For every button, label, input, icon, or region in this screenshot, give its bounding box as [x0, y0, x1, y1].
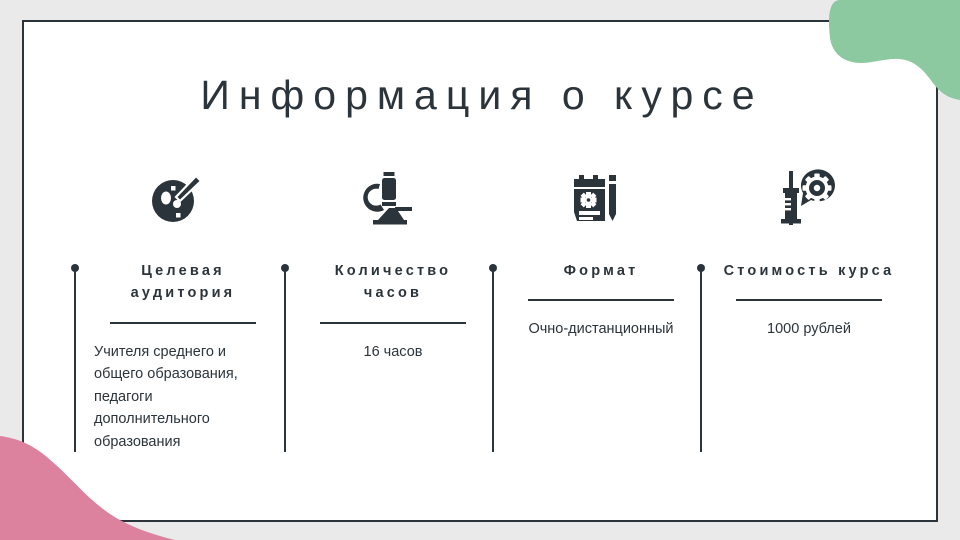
info-column: Количество часов 16 часов [284, 152, 492, 492]
page-title: Информация о курсе [24, 72, 940, 119]
column-heading: Формат [512, 260, 690, 282]
slide-canvas: Информация о курсе [0, 0, 960, 540]
column-body: Стоимость курса 1000 рублей [720, 260, 898, 341]
column-rule [320, 322, 466, 324]
info-column: Стоимость курса 1000 рублей [700, 152, 908, 492]
divider-dot [71, 264, 79, 272]
column-body: Количество часов 16 часов [304, 260, 482, 363]
info-column: Целевая аудитория Учителя среднего и общ… [74, 152, 282, 492]
column-text: Учителя среднего и общего образования, п… [94, 341, 272, 453]
column-divider [74, 268, 76, 452]
palette-brush-icon [74, 152, 282, 240]
column-heading: Количество часов [304, 260, 482, 305]
info-columns: Целевая аудитория Учителя среднего и общ… [24, 152, 940, 492]
syringe-gear-icon [700, 152, 908, 240]
column-text: 16 часов [304, 341, 482, 363]
divider-dot [281, 264, 289, 272]
microscope-icon [284, 152, 492, 240]
column-heading: Стоимость курса [720, 260, 898, 282]
column-divider [492, 268, 494, 452]
column-divider [700, 268, 702, 452]
column-text: 1000 рублей [720, 318, 898, 340]
column-rule [736, 299, 882, 301]
divider-dot [489, 264, 497, 272]
column-body: Формат Очно-дистанционный [512, 260, 690, 341]
info-column: Формат Очно-дистанционный [492, 152, 700, 492]
column-rule [110, 322, 256, 324]
slide-panel: Информация о курсе [22, 20, 938, 522]
column-rule [528, 299, 674, 301]
column-divider [284, 268, 286, 452]
column-text: Очно-дистанционный [512, 318, 690, 340]
notepad-pencil-icon [492, 152, 700, 240]
divider-dot [697, 264, 705, 272]
column-body: Целевая аудитория Учителя среднего и общ… [94, 260, 272, 453]
column-heading: Целевая аудитория [94, 260, 272, 305]
